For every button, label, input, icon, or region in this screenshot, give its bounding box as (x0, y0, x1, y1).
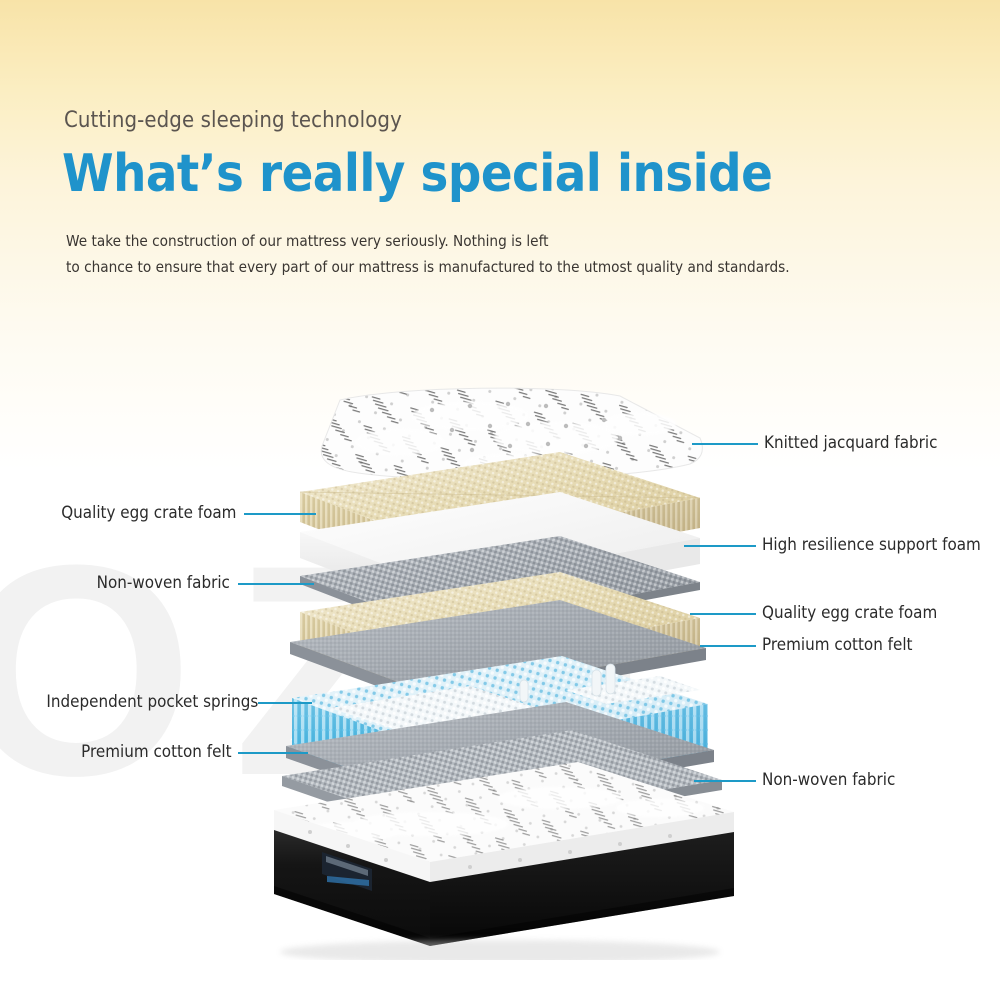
leader-knitted-jacquard-fabric (692, 443, 758, 445)
label-high-resilience-support-foam: High resilience support foam (762, 535, 981, 555)
kicker-text: Cutting-edge sleeping technology (64, 107, 402, 133)
leader-quality-egg-crate-foam-left (244, 513, 316, 515)
label-premium-cotton-felt-right: Premium cotton felt (762, 635, 913, 655)
label-quality-egg-crate-foam-right: Quality egg crate foam (762, 603, 937, 623)
leader-premium-cotton-felt-left (238, 752, 308, 754)
mattress-layers-svg (0, 380, 1000, 960)
label-independent-pocket-springs: Independent pocket springs (46, 692, 258, 712)
label-non-woven-fabric-left: Non-woven fabric (97, 573, 230, 593)
leader-quality-egg-crate-foam-right (690, 613, 756, 615)
body-copy-line-1: We take the construction of our mattress… (66, 228, 790, 254)
leader-non-woven-fabric-left (238, 583, 314, 585)
body-copy-line-2: to chance to ensure that every part of o… (66, 254, 790, 280)
label-non-woven-fabric-right: Non-woven fabric (762, 770, 895, 790)
label-knitted-jacquard-fabric: Knitted jacquard fabric (764, 433, 937, 453)
leader-non-woven-fabric-right (694, 780, 756, 782)
page-title: What’s really special inside (62, 143, 772, 205)
leader-premium-cotton-felt-right (700, 645, 756, 647)
leader-high-resilience-support-foam (684, 545, 756, 547)
leader-independent-pocket-springs (258, 702, 312, 704)
label-quality-egg-crate-foam-left: Quality egg crate foam (61, 503, 236, 523)
label-premium-cotton-felt-left: Premium cotton felt (81, 742, 232, 762)
body-copy: We take the construction of our mattress… (66, 228, 790, 280)
exploded-mattress-diagram: Knitted jacquard fabric High resilience … (0, 380, 1000, 960)
